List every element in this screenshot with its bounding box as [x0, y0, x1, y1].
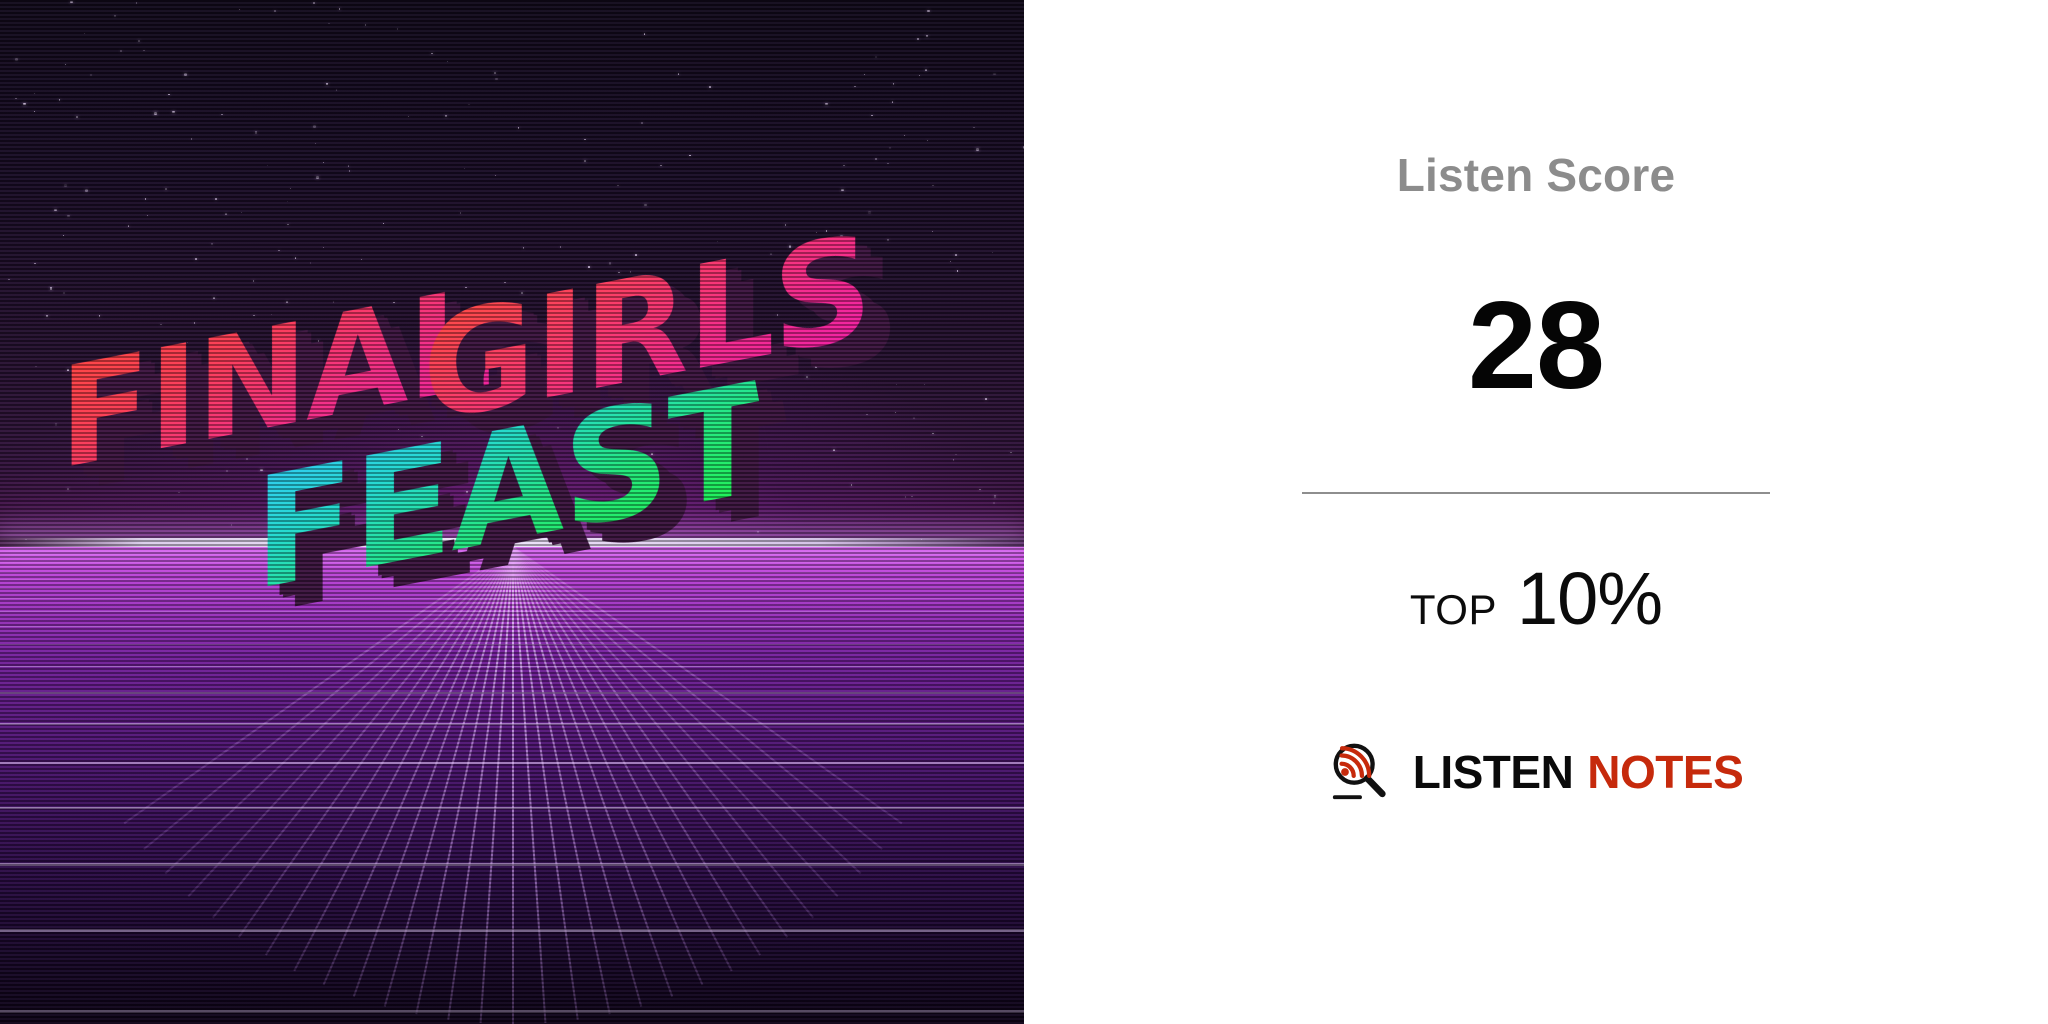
listen-notes-wordmark: LISTEN NOTES — [1413, 749, 1744, 795]
rank-value: 10% — [1517, 556, 1662, 641]
listen-score-panel: Listen Score 28 TOP 10% — [1024, 0, 2048, 1024]
listen-notes-logo[interactable]: LISTEN NOTES — [1329, 741, 1744, 803]
artwork-title: FINAL GIRLS FEAST — [0, 0, 1024, 1024]
listen-score-rank: TOP 10% — [1410, 556, 1662, 641]
podcast-artwork[interactable]: FINAL GIRLS FEAST — [0, 0, 1024, 1024]
logo-word-notes: NOTES — [1587, 749, 1743, 795]
listen-score-title: Listen Score — [1397, 152, 1676, 198]
listen-score-card: FINAL GIRLS FEAST Listen Score 28 TOP 10… — [0, 0, 2048, 1024]
rank-label: TOP — [1410, 586, 1497, 634]
divider — [1302, 492, 1770, 494]
listen-score-value: 28 — [1468, 284, 1604, 408]
listen-notes-magnifier-rss-icon — [1329, 741, 1391, 803]
logo-word-listen: LISTEN — [1413, 749, 1574, 795]
